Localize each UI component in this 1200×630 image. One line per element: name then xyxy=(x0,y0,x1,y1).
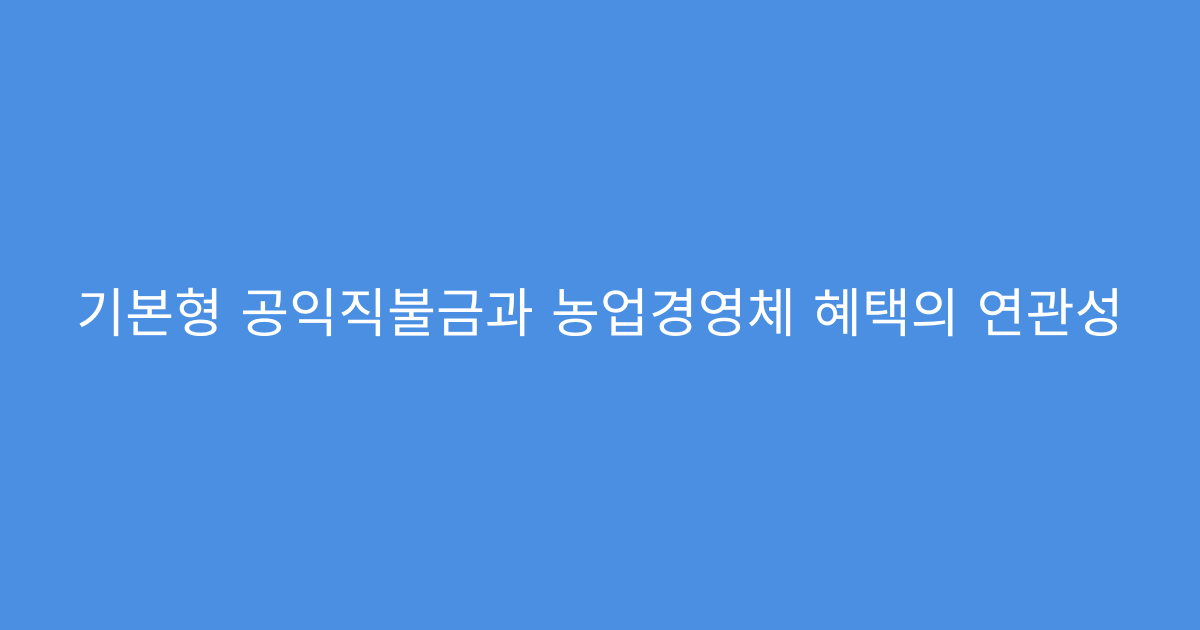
headline-container: 기본형 공익직불금과 농업경영체 혜택의 연관성 xyxy=(70,284,1130,345)
social-share-card: 기본형 공익직불금과 농업경영체 혜택의 연관성 xyxy=(0,0,1200,630)
page-title: 기본형 공익직불금과 농업경영체 혜택의 연관성 xyxy=(76,284,1123,345)
